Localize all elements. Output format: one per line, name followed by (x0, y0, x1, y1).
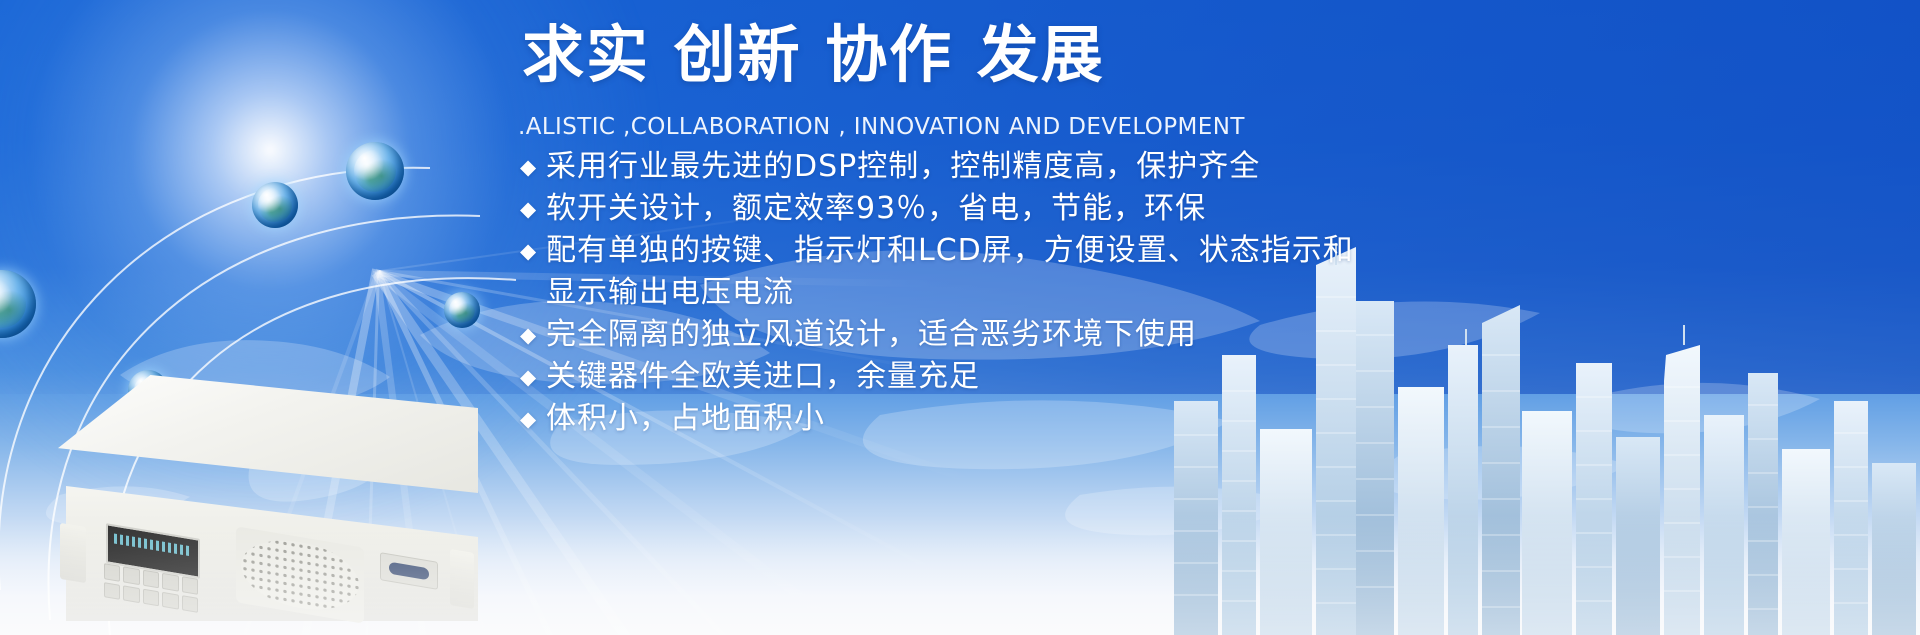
diamond-bullet-icon: ◆ (520, 188, 546, 230)
diamond-bullet-icon: ◆ (520, 146, 546, 188)
feature-bullet-text: 配有单独的按键、指示灯和LCD屏，方便设置、状态指示和 (546, 230, 1354, 272)
feature-bullet: ◆完全隔离的独立风道设计，适合恶劣环境下使用 (520, 314, 1560, 356)
feature-bullet: ◆显示输出电压电流 (520, 272, 1560, 314)
banner-copy: 求实 创新 协作 发展 .ALISTIC ,COLLABORATION , IN… (510, 0, 1570, 520)
feature-bullet-text: 关键器件全欧美进口，余量充足 (546, 356, 980, 398)
feature-bullet: ◆采用行业最先进的DSP控制，控制精度高，保护齐全 (520, 146, 1560, 188)
feature-bullet-text: 采用行业最先进的DSP控制，控制精度高，保护齐全 (546, 146, 1260, 188)
marketing-banner: 求实 创新 协作 发展 .ALISTIC ,COLLABORATION , IN… (0, 0, 1920, 635)
sub-headline: .ALISTIC ,COLLABORATION , INNOVATION AND… (518, 114, 1245, 140)
feature-bullet: ◆配有单独的按键、指示灯和LCD屏，方便设置、状态指示和 (520, 230, 1560, 272)
diamond-bullet-icon: ◆ (520, 398, 546, 440)
feature-bullet: ◆体积小，占地面积小 (520, 398, 1560, 440)
feature-bullet-text: 体积小，占地面积小 (546, 398, 825, 440)
feature-bullet-text: 完全隔离的独立风道设计，适合恶劣环境下使用 (546, 314, 1197, 356)
feature-bullet: ◆关键器件全欧美进口，余量充足 (520, 356, 1560, 398)
globe-icon (346, 142, 404, 200)
globe-icon (444, 292, 480, 328)
headline: 求实 创新 协作 发展 (522, 24, 1105, 86)
feature-bullet-text: 显示输出电压电流 (546, 272, 794, 314)
diamond-bullet-icon: ◆ (520, 230, 546, 272)
feature-bullet: ◆软开关设计，额定效率93％，省电，节能，环保 (520, 188, 1560, 230)
diamond-bullet-icon: ◆ (520, 356, 546, 398)
device-top-panel (58, 375, 478, 493)
product-device (58, 375, 478, 635)
globe-icon (252, 182, 298, 228)
feature-bullet-list: ◆采用行业最先进的DSP控制，控制精度高，保护齐全◆软开关设计，额定效率93％，… (520, 146, 1560, 440)
feature-bullet-text: 软开关设计，额定效率93％，省电，节能，环保 (546, 188, 1206, 230)
diamond-bullet-icon: ◆ (520, 314, 546, 356)
device-rack-ear-left (60, 523, 86, 583)
device-rack-ear-right (450, 549, 474, 609)
